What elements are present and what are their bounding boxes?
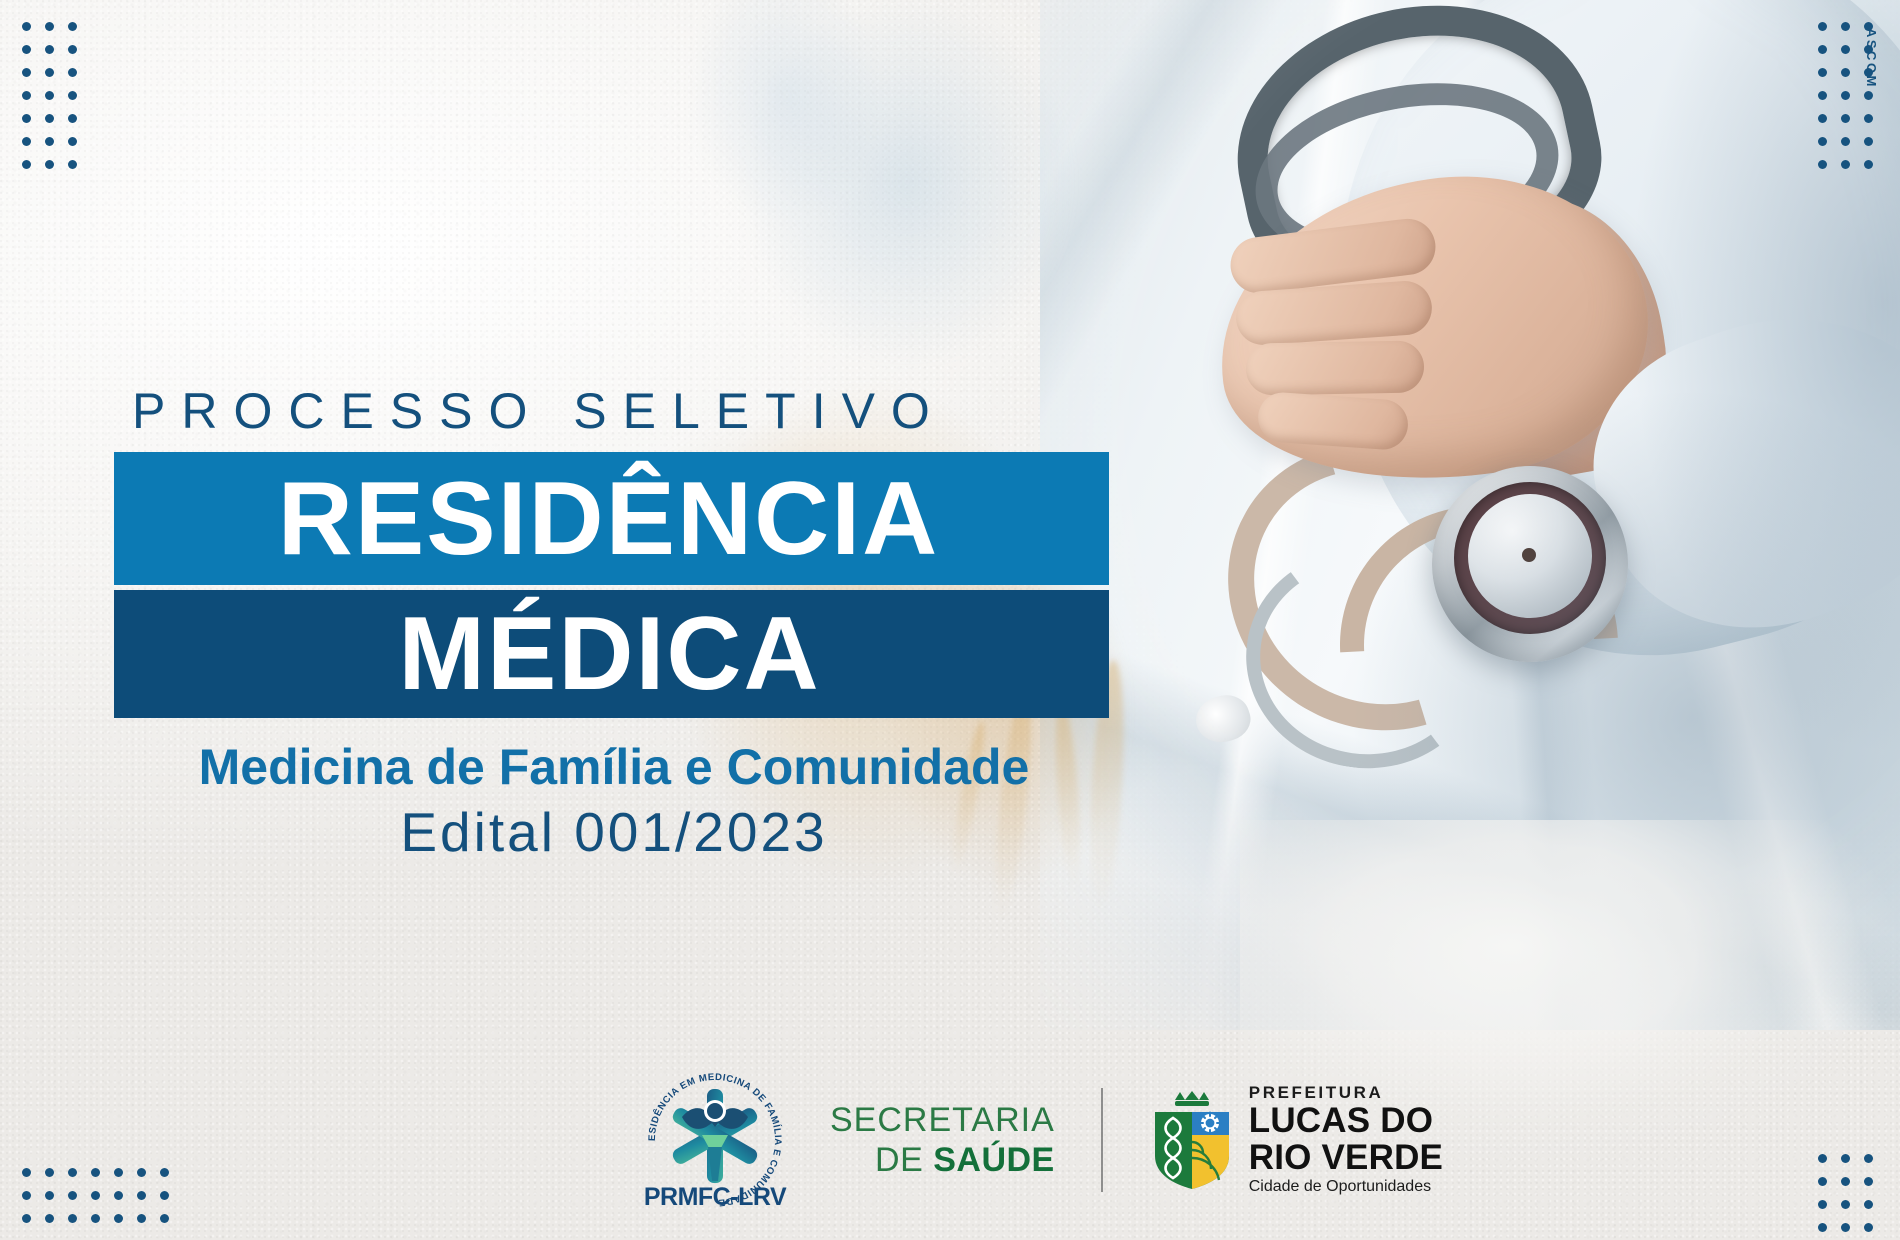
page-title-line-1: RESIDÊNCIA — [114, 467, 1109, 571]
corner-dots-top-left — [22, 22, 77, 169]
secretaria-line-1: SECRETARIA — [830, 1100, 1055, 1140]
edital-label: Edital 001/2023 — [114, 800, 1114, 864]
logo-divider — [1101, 1088, 1103, 1192]
prefeitura-logo: PREFEITURA LUCAS DO RIO VERDE Cidade de … — [1149, 1084, 1443, 1196]
star-of-life-person-icon — [662, 1083, 768, 1189]
title-bar-secondary: MÉDICA — [114, 590, 1109, 718]
title-bar-primary: RESIDÊNCIA — [114, 452, 1109, 585]
program-subtitle: Medicina de Família e Comunidade — [114, 738, 1114, 796]
page-title-line-2: MÉDICA — [114, 602, 1109, 706]
prefeitura-city-line-2: RIO VERDE — [1249, 1139, 1443, 1176]
prefeitura-text-block: PREFEITURA LUCAS DO RIO VERDE Cidade de … — [1249, 1084, 1443, 1196]
secretaria-line-2-prefix: DE — [875, 1141, 933, 1179]
poster-canvas: ASCOM PROCESSO SELETIVO RESIDÊNCIA MÉDIC… — [0, 0, 1900, 1240]
footer-logo-row: PROGRAMA DE RESIDÊNCIA EM MEDICINA DE FA… — [640, 1065, 1443, 1215]
ascom-credit-label: ASCOM — [1864, 28, 1879, 89]
prefeitura-eyebrow: PREFEITURA — [1249, 1084, 1443, 1102]
prmfc-acronym: PRMFC-LRV — [634, 1183, 796, 1212]
municipal-coat-of-arms-icon — [1149, 1088, 1235, 1192]
corner-dots-bottom-right — [1818, 1154, 1873, 1240]
prmfc-logo: PROGRAMA DE RESIDÊNCIA EM MEDICINA DE FA… — [640, 1065, 790, 1215]
secretaria-saude-logo: SECRETARIA DE SAÚDE — [830, 1100, 1055, 1180]
prefeitura-tagline: Cidade de Oportunidades — [1249, 1179, 1443, 1196]
secretaria-line-2: DE SAÚDE — [830, 1140, 1055, 1180]
corner-dots-bottom-left — [22, 1168, 169, 1223]
prefeitura-city-line-1: LUCAS DO — [1249, 1102, 1443, 1139]
page-kicker: PROCESSO SELETIVO — [132, 382, 946, 440]
secretaria-line-2-strong: SAÚDE — [933, 1141, 1055, 1179]
